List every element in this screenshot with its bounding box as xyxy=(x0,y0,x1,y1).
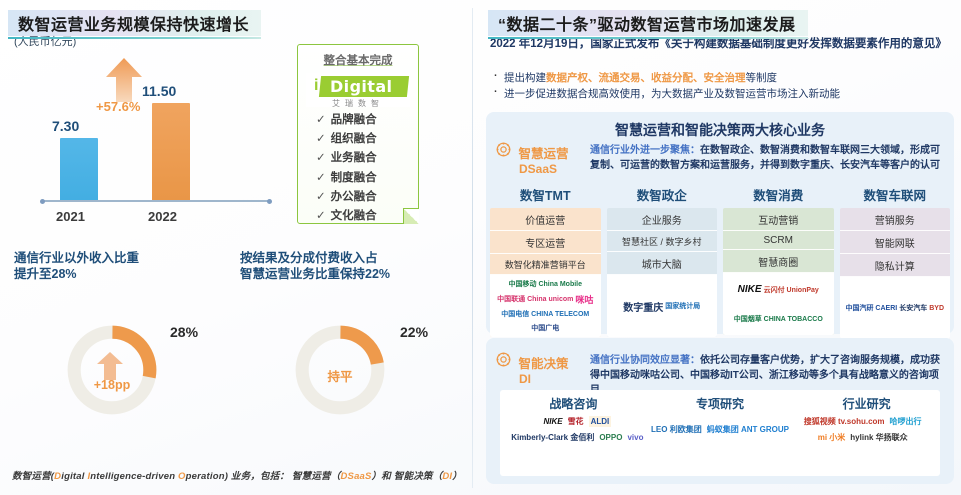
footnote: 数智运营(Digital Intelligence-driven Operati… xyxy=(12,468,462,482)
chart-axis-line xyxy=(42,200,270,202)
cell: 专区运营 xyxy=(490,231,601,254)
check-icon: ✓ xyxy=(316,114,326,126)
bullet-highlight: 数据产权、流通交易、收益分配、安全治理 xyxy=(546,72,746,84)
kpi-heading-2: 按结果及分成付费收入占 智慧运营业务比重保持22% xyxy=(240,250,390,282)
digital-chongqing-logo: 数字重庆 xyxy=(623,299,663,314)
di-badge: 智能决策 DI xyxy=(496,352,584,386)
dsaas-badge: 智慧运营 DSaaS xyxy=(496,142,584,176)
title-underline xyxy=(8,37,261,40)
donut-1-arrow-icon xyxy=(97,352,123,380)
revenue-bar-chart: +57.6% 7.30 11.50 2021 2022 xyxy=(30,55,280,230)
china-tobacco-logo: 中国烟草 CHINA TOBACCO xyxy=(734,314,823,324)
vivo-logo: vivo xyxy=(627,433,643,442)
client-logo-strip: 战略咨询 专项研究 行业研究 NIKE 雪花 ALDI Kimberly-Cla… xyxy=(500,390,940,476)
cell: 城市大脑 xyxy=(607,252,718,275)
cell: 智慧社区 / 数字乡村 xyxy=(607,231,718,252)
idigital-logo: i Digital 艾瑞数智 xyxy=(306,73,410,107)
bullet-pre: 提出构建 xyxy=(504,72,546,84)
check-icon: ✓ xyxy=(316,172,326,184)
bar-2022 xyxy=(152,103,190,200)
di-desc-lead: 通信行业协同效应显著： xyxy=(590,355,700,366)
hellobike-logo: 哈啰出行 xyxy=(890,416,922,427)
idigital-card: 整合基本完成 i Digital 艾瑞数智 ✓品牌融合 ✓组织融合 ✓业务融合 … xyxy=(297,44,419,224)
logo-box: 数字重庆 国家统计局 xyxy=(607,275,718,337)
slide-root: 数智运营业务规模保持快速增长 (人民币亿元) +57.6% 7.30 11.50… xyxy=(0,0,961,495)
nike-logo: NIKE xyxy=(543,417,562,426)
list-item: ✓品牌融合 xyxy=(316,111,418,127)
national-bureau-statistics-logo: 国家统计局 xyxy=(665,301,700,311)
donut-2-percent: 22% xyxy=(400,324,428,340)
bullet-pre: 进一步促进数据合规高效使用，为大数据产业及数智运营市场注入新动能 xyxy=(504,88,840,100)
x-label-2022: 2022 xyxy=(148,209,177,224)
right-section-title: “数据二十条”驱动数智运营市场加速发展 xyxy=(488,8,808,39)
growth-rate-label: +57.6% xyxy=(96,99,140,114)
cell: 互动营销 xyxy=(723,208,834,231)
check-icon: ✓ xyxy=(316,152,326,164)
kpi-heading-2-line1: 按结果及分成付费收入占 xyxy=(240,250,390,266)
industry-research-logos: 搜狐视频 tv.sohu.com 哈啰出行 mi 小米 hylink 华扬联众 xyxy=(791,416,934,443)
cell: 隐私计算 xyxy=(840,254,951,277)
dsaas-name: 智慧运营 xyxy=(518,143,568,162)
idigital-item-label: 组织融合 xyxy=(331,133,377,145)
caeri-logo: 中国汽研 CAERI xyxy=(845,303,897,313)
right-panel: “数据二十条”驱动数智运营市场加速发展 2022 年12月19日，国家正式发布《… xyxy=(478,0,961,495)
list-item: ✓制度融合 xyxy=(316,169,418,185)
migu-logo: 咪咕 xyxy=(575,293,593,306)
column-cells: 营销服务 智能网联 隐私计算 中国汽研 CAERI 长安汽车 BYD xyxy=(840,208,951,339)
footnote-t2: ntelligence-driven xyxy=(90,471,178,482)
left-title-text: 数智运营业务规模保持快速增长 xyxy=(18,17,249,34)
di-sub: DI xyxy=(519,372,584,386)
list-item: ✓办公融合 xyxy=(316,188,418,204)
list-item: 提出构建数据产权、流通交易、收益分配、安全治理等制度 xyxy=(490,70,950,86)
di-name: 智能决策 xyxy=(518,353,568,372)
column-cells: 企业服务 智慧社区 / 数字乡村 城市大脑 数字重庆 国家统计局 xyxy=(607,208,718,337)
ant-group-logo: 蚂蚁集团 ANT GROUP xyxy=(707,424,789,435)
panel-divider xyxy=(472,8,473,488)
idigital-logo-word: Digital xyxy=(330,77,392,96)
footnote-t3: peration xyxy=(186,471,225,482)
check-icon: ✓ xyxy=(316,210,326,222)
china-broadnet-logo: 中国广电 xyxy=(531,323,559,333)
footnote-o3: O xyxy=(178,471,186,482)
idigital-item-label: 业务融合 xyxy=(331,152,377,164)
china-unicom-logo: 中国联通 China unicom xyxy=(497,294,573,304)
donut-2-center-label: 持平 xyxy=(290,366,390,385)
sohu-video-logo: 搜狐视频 tv.sohu.com xyxy=(804,416,885,427)
dsaas-desc-lead: 通信行业外进一步聚焦： xyxy=(590,145,700,156)
bar-value-2022: 11.50 xyxy=(142,83,176,99)
footnote-o5: DI xyxy=(442,471,452,482)
left-panel: 数智运营业务规模保持快速增长 (人民币亿元) +57.6% 7.30 11.50… xyxy=(0,0,470,495)
china-mobile-logo: 中国移动 China Mobile xyxy=(509,279,583,289)
column-cells: 价值运营 专区运营 数智化精准营销平台 中国移动 China Mobile 中国… xyxy=(490,208,601,337)
check-icon: ✓ xyxy=(316,133,326,145)
column-cells: 互动营销 SCRM 智慧商圈 NIKE 云闪付 UnionPay 中国烟草 CH… xyxy=(723,208,834,335)
donut-1-percent: 28% xyxy=(170,324,198,340)
growth-arrow-icon xyxy=(106,58,142,102)
kpi-heading-1-line2: 提升至28% xyxy=(14,266,139,282)
list-item: 进一步促进数据合规高效使用，为大数据产业及数智运营市场注入新动能 xyxy=(490,86,950,102)
business-domain-columns: 数智TMT 价值运营 专区运营 数智化精准营销平台 中国移动 China Mob… xyxy=(490,185,950,339)
policy-bullet-list: 提出构建数据产权、流通交易、收益分配、安全治理等制度 进一步促进数据合规高效使用… xyxy=(490,70,950,102)
cell: 企业服务 xyxy=(607,208,718,231)
list-item: ✓组织融合 xyxy=(316,130,418,146)
logo-box: 中国汽研 CAERI 长安汽车 BYD xyxy=(840,277,951,339)
footnote-part-3: ）和 智能决策（ xyxy=(372,471,443,482)
folded-corner xyxy=(403,208,419,224)
cell: 数智化精准营销平台 xyxy=(490,254,601,275)
idigital-item-list: ✓品牌融合 ✓组织融合 ✓业务融合 ✓制度融合 ✓办公融合 ✓文化融合 xyxy=(316,111,418,223)
cell: 营销服务 xyxy=(840,208,951,231)
nike-logo: NIKE xyxy=(738,284,762,295)
column-head: 数智车联网 xyxy=(840,185,951,204)
column-head: 数智政企 xyxy=(607,185,718,204)
strip-head: 专项研究 xyxy=(647,395,794,412)
strip-headings: 战略咨询 专项研究 行业研究 xyxy=(500,390,940,412)
column-automotive: 数智车联网 营销服务 智能网联 隐私计算 中国汽研 CAERI 长安汽车 BYD xyxy=(840,185,951,339)
kpi-heading-1: 通信行业以外收入比重 提升至28% xyxy=(14,250,139,282)
bar-2021 xyxy=(60,138,98,200)
strip-head: 战略咨询 xyxy=(500,395,647,412)
special-research-logos: LEO 利欧集团 蚂蚁集团 ANT GROUP xyxy=(649,424,792,435)
dsaas-card-title: 智慧运营和智能决策两大核心业务 xyxy=(486,120,954,140)
x-label-2021: 2021 xyxy=(56,209,85,224)
idigital-logo-sub: 艾瑞数智 xyxy=(306,98,410,109)
footnote-t1: igital xyxy=(61,471,87,482)
cell: 智慧商圈 xyxy=(723,250,834,273)
column-head: 数智TMT xyxy=(490,185,601,204)
cell: 智能网联 xyxy=(840,231,951,254)
oppo-logo: OPPO xyxy=(599,433,622,442)
cell: SCRM xyxy=(723,231,834,250)
changan-logo: 长安汽车 xyxy=(899,303,927,313)
china-telecom-logo: 中国电信 CHINA TELECOM xyxy=(501,309,589,319)
bullet-post: 等制度 xyxy=(746,72,778,84)
leo-group-logo: LEO 利欧集团 xyxy=(651,424,702,435)
column-government: 数智政企 企业服务 智慧社区 / 数字乡村 城市大脑 数字重庆 国家统计局 xyxy=(607,185,718,339)
strip-logo-row: NIKE 雪花 ALDI Kimberly-Clark 金佰利 OPPO viv… xyxy=(500,412,940,443)
column-consumer: 数智消费 互动营销 SCRM 智慧商圈 NIKE 云闪付 UnionPay 中国… xyxy=(723,185,834,339)
cell: 价值运营 xyxy=(490,208,601,231)
strip-head: 行业研究 xyxy=(793,395,940,412)
logo-box: NIKE 云闪付 UnionPay 中国烟草 CHINA TOBACCO xyxy=(723,273,834,335)
right-title-text: “数据二十条”驱动数智运营市场加速发展 xyxy=(498,17,796,34)
idigital-item-label: 制度融合 xyxy=(331,172,377,184)
chart-unit-label: (人民币亿元) xyxy=(14,33,76,49)
dsaas-description: 通信行业外进一步聚焦：在数智政企、数智消费和数智车联网三大领域，形成可复制、可运… xyxy=(590,143,942,173)
idigital-heading: 整合基本完成 xyxy=(298,52,418,68)
footnote-part-1: 数智运营( xyxy=(12,471,54,482)
footnote-part-2: ) 业务，包括： 智慧运营（ xyxy=(225,471,341,482)
aldi-logo: ALDI xyxy=(589,416,612,427)
kpi-heading-1-line1: 通信行业以外收入比重 xyxy=(14,250,139,266)
gear-icon xyxy=(496,352,511,372)
column-tmt: 数智TMT 价值运营 专区运营 数智化精准营销平台 中国移动 China Mob… xyxy=(490,185,601,339)
dsaas-sub: DSaaS xyxy=(519,162,584,176)
kimberly-clark-logo: Kimberly-Clark 金佰利 xyxy=(511,432,594,443)
xiaomi-logo: mi 小米 xyxy=(818,432,846,443)
check-icon: ✓ xyxy=(316,191,326,203)
unionpay-logo: 云闪付 UnionPay xyxy=(764,285,819,295)
snow-beer-logo: 雪花 xyxy=(568,416,584,427)
footnote-o4: DSaaS xyxy=(340,471,371,482)
donut-1-center-label: +18pp xyxy=(62,378,162,392)
idigital-item-label: 品牌融合 xyxy=(331,114,377,126)
bar-value-2021: 7.30 xyxy=(52,118,79,134)
idigital-logo-i: i xyxy=(314,77,318,95)
idigital-item-label: 办公融合 xyxy=(331,191,377,203)
title-underline xyxy=(488,37,808,40)
hylink-logo: hylink 华扬联众 xyxy=(850,432,907,443)
kpi-heading-2-line2: 智慧运营业务比重保持22% xyxy=(240,266,390,282)
logo-box: 中国移动 China Mobile 中国联通 China unicom 咪咕 中… xyxy=(490,275,601,337)
footnote-part-4: ） xyxy=(452,471,462,482)
gear-icon xyxy=(496,142,511,162)
list-item: ✓业务融合 xyxy=(316,149,418,165)
column-head: 数智消费 xyxy=(723,185,834,204)
idigital-item-label: 文化融合 xyxy=(331,210,377,222)
byd-logo: BYD xyxy=(929,305,944,312)
strategy-consulting-logos: NIKE 雪花 ALDI Kimberly-Clark 金佰利 OPPO viv… xyxy=(506,416,649,443)
